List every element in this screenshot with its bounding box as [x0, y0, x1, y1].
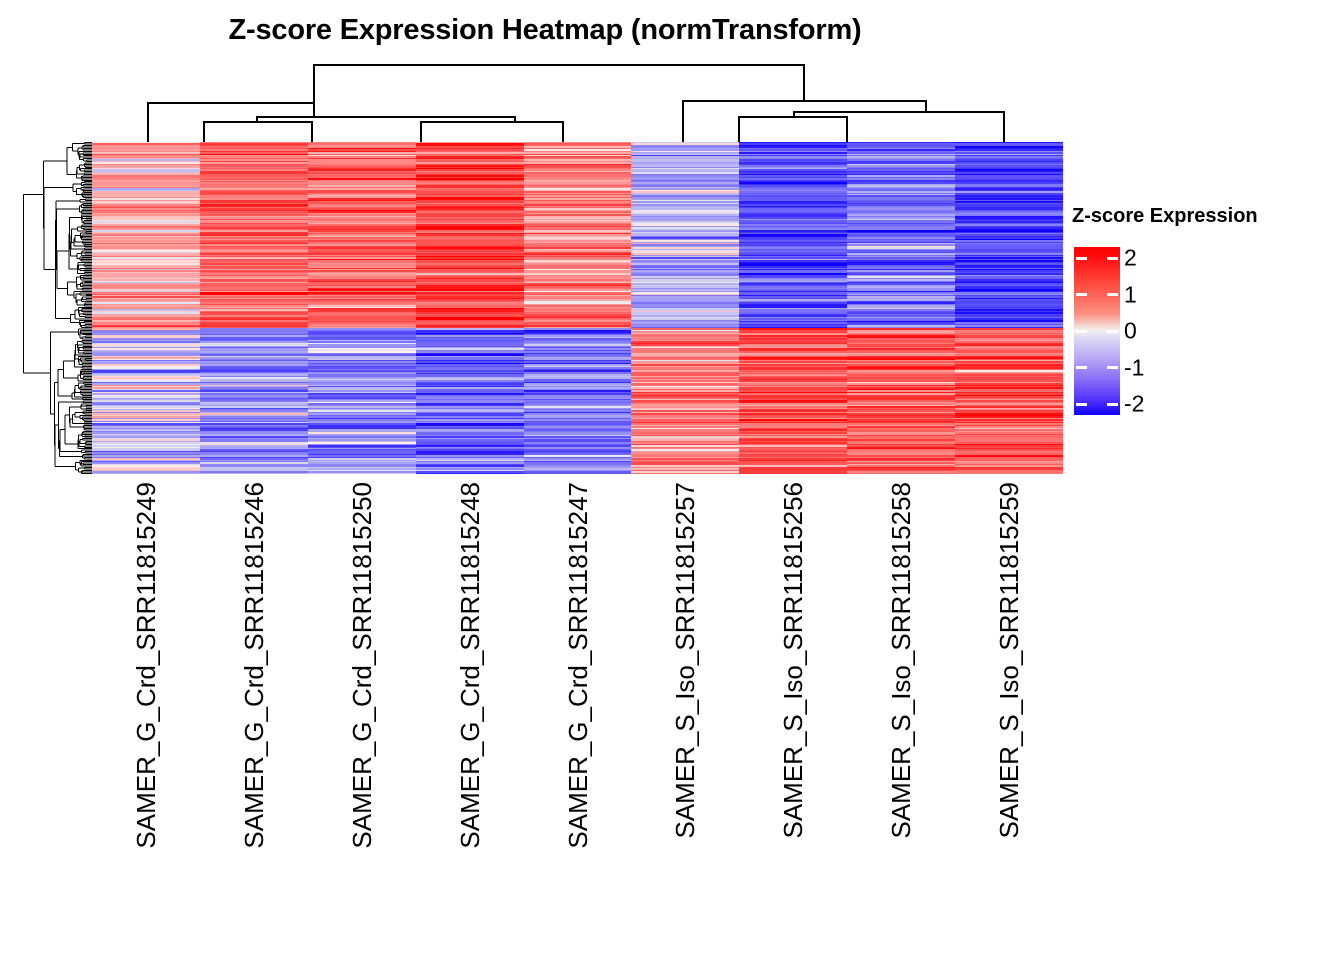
colorbar-tick-label: 2 — [1124, 247, 1137, 270]
column-label: SAMER_G_Crd_SRR11815250 — [349, 482, 375, 849]
dendro-link-right-a — [682, 100, 927, 102]
heatmap-body — [92, 142, 1063, 474]
colorbar — [1074, 247, 1120, 415]
row-dendrogram-svg — [22, 142, 92, 474]
dendro-link-root-left-stem — [313, 64, 315, 102]
column-label: SAMER_S_Iso_SRR11815258 — [888, 482, 914, 839]
page-title: Z-score Expression Heatmap (normTransfor… — [0, 14, 1090, 47]
dendro-link-root-right-stem — [803, 64, 805, 100]
heatmap-column — [631, 142, 739, 474]
column-label-slot: SAMER_G_Crd_SRR11815246 — [200, 480, 308, 950]
colorbar-tick — [1107, 257, 1118, 260]
colorbar-tick — [1076, 330, 1087, 333]
colorbar-tick — [1076, 293, 1087, 296]
column-label: SAMER_G_Crd_SRR11815246 — [241, 482, 267, 849]
colorbar-tick — [1107, 330, 1118, 333]
column-label-slot: SAMER_S_Iso_SRR11815259 — [955, 480, 1063, 950]
column-labels: SAMER_G_Crd_SRR11815249 SAMER_G_Crd_SRR1… — [92, 480, 1063, 950]
column-label-slot: SAMER_G_Crd_SRR11815250 — [308, 480, 416, 950]
colorbar-tick — [1076, 257, 1087, 260]
dendro-link-left-d — [420, 121, 564, 123]
colorbar-tick — [1076, 403, 1087, 406]
row-dendrogram — [22, 142, 92, 474]
colorbar-tick — [1107, 293, 1118, 296]
heatmap-cell — [200, 473, 308, 474]
colorbar-tick-label: 1 — [1124, 283, 1137, 306]
heatmap-column — [847, 142, 955, 474]
heatmap-column — [955, 142, 1063, 474]
dendro-link-right-b — [793, 111, 1005, 113]
column-label: SAMER_G_Crd_SRR11815248 — [457, 482, 483, 849]
heatmap-cell — [524, 473, 632, 474]
colorbar-tick-label: -1 — [1124, 356, 1144, 379]
column-label-slot: SAMER_S_Iso_SRR11815258 — [847, 480, 955, 950]
colorbar-tick — [1107, 366, 1118, 369]
dendro-link-left-b — [256, 116, 516, 118]
column-label: SAMER_S_Iso_SRR11815259 — [996, 482, 1022, 839]
column-label-slot: SAMER_S_Iso_SRR11815256 — [739, 480, 847, 950]
heatmap-column — [200, 142, 308, 474]
dendro-link-left-c — [203, 121, 313, 123]
heatmap-column — [92, 142, 200, 474]
heatmap-column — [416, 142, 524, 474]
dendro-link-right-c — [738, 116, 848, 118]
column-label-slot: SAMER_G_Crd_SRR11815249 — [92, 480, 200, 950]
column-label: SAMER_G_Crd_SRR11815247 — [565, 482, 591, 849]
heatmap-cell — [416, 473, 524, 474]
legend-title: Z-score Expression — [1072, 205, 1258, 228]
column-label-slot: SAMER_G_Crd_SRR11815247 — [524, 480, 632, 950]
column-label: SAMER_S_Iso_SRR11815257 — [672, 482, 698, 839]
colorbar-tick-label: -2 — [1124, 393, 1144, 416]
heatmap-cell — [92, 473, 200, 474]
column-label: SAMER_S_Iso_SRR11815256 — [780, 482, 806, 839]
heatmap-cell — [955, 473, 1063, 474]
colorbar-tick — [1076, 366, 1087, 369]
dendro-link-left-a — [147, 102, 315, 104]
row-dendrogram-links — [24, 143, 93, 474]
column-dendrogram — [0, 56, 1075, 144]
heatmap-column — [524, 142, 632, 474]
heatmap-cell — [308, 473, 416, 474]
column-label-slot: SAMER_S_Iso_SRR11815257 — [631, 480, 739, 950]
heatmap-cell — [847, 473, 955, 474]
colorbar-tick-label: 0 — [1124, 320, 1137, 343]
column-label: SAMER_G_Crd_SRR11815249 — [133, 482, 159, 849]
colorbar-tick — [1107, 403, 1118, 406]
heatmap-cell — [631, 473, 739, 474]
heatmap-column — [308, 142, 416, 474]
column-label-slot: SAMER_G_Crd_SRR11815248 — [416, 480, 524, 950]
heatmap-cell — [739, 473, 847, 474]
heatmap-column — [739, 142, 847, 474]
dendro-link-root — [313, 64, 805, 66]
